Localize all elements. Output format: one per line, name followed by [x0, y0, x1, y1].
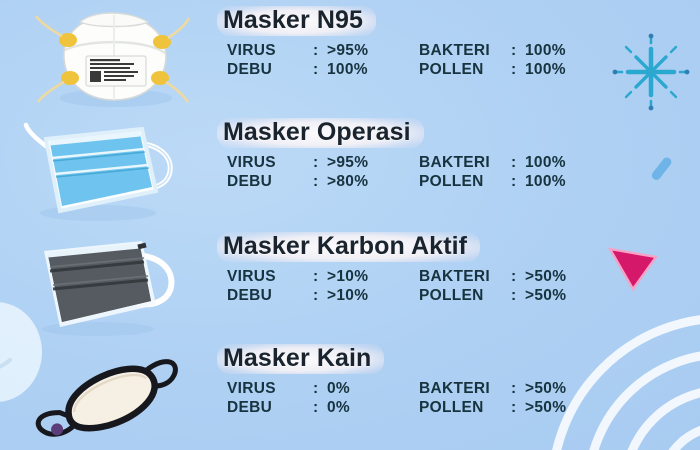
mask-specs: VIRUS : >95% BAKTERI : 100% DEBU : >80% …: [227, 154, 700, 191]
mask-row-n95: Masker N95 VIRUS : >95% BAKTERI : 100% D…: [0, 2, 700, 114]
spec-value-virus: >10%: [327, 268, 419, 286]
spec-value-debu: 0%: [327, 399, 419, 417]
n95-respirator-icon: [0, 2, 215, 114]
spec-colon: :: [313, 399, 327, 417]
row-body: Masker Kain VIRUS : 0% BAKTERI : >50% DE…: [215, 340, 700, 450]
spec-colon: :: [313, 268, 327, 286]
surgical-mask-icon: [0, 114, 215, 226]
mask-title: Masker N95: [217, 6, 376, 36]
spec-value-debu: >80%: [327, 173, 419, 191]
spec-colon: :: [313, 287, 327, 305]
spec-label-pollen: POLLEN: [419, 287, 511, 305]
spec-colon: :: [313, 173, 327, 191]
row-body: Masker N95 VIRUS : >95% BAKTERI : 100% D…: [215, 2, 700, 114]
spec-colon: :: [511, 287, 525, 305]
mask-row-karbon-aktif: Masker Karbon Aktif VIRUS : >10% BAKTERI…: [0, 228, 700, 340]
spec-label-virus: VIRUS: [227, 380, 313, 398]
spec-label-debu: DEBU: [227, 399, 313, 417]
row-body: Masker Karbon Aktif VIRUS : >10% BAKTERI…: [215, 228, 700, 340]
spec-label-pollen: POLLEN: [419, 399, 511, 417]
mask-title: Masker Operasi: [217, 118, 424, 148]
spec-value-debu: 100%: [327, 61, 419, 79]
spec-colon: :: [313, 42, 327, 60]
spec-value-pollen: >50%: [525, 287, 700, 305]
spec-value-pollen: 100%: [525, 173, 700, 191]
spec-value-bakteri: 100%: [525, 42, 700, 60]
spec-label-debu: DEBU: [227, 287, 313, 305]
spec-value-debu: >10%: [327, 287, 419, 305]
spec-value-pollen: 100%: [525, 61, 700, 79]
mask-specs: VIRUS : >95% BAKTERI : 100% DEBU : 100% …: [227, 42, 700, 79]
spec-colon: :: [511, 173, 525, 191]
spec-label-pollen: POLLEN: [419, 61, 511, 79]
spec-value-bakteri: >50%: [525, 380, 700, 398]
mask-row-operasi: Masker Operasi VIRUS : >95% BAKTERI : 10…: [0, 114, 700, 226]
spec-colon: :: [511, 61, 525, 79]
cloth-mask-icon: [0, 340, 215, 450]
spec-label-bakteri: BAKTERI: [419, 268, 511, 286]
spec-colon: :: [313, 154, 327, 172]
mask-row-kain: Masker Kain VIRUS : 0% BAKTERI : >50% DE…: [0, 340, 700, 450]
spec-label-virus: VIRUS: [227, 268, 313, 286]
spec-colon: :: [511, 268, 525, 286]
mask-title: Masker Karbon Aktif: [217, 232, 480, 262]
spec-colon: :: [511, 154, 525, 172]
spec-label-debu: DEBU: [227, 61, 313, 79]
spec-value-virus: 0%: [327, 380, 419, 398]
spec-colon: :: [511, 399, 525, 417]
carbon-mask-icon: [0, 228, 215, 340]
spec-value-virus: >95%: [327, 154, 419, 172]
spec-colon: :: [511, 42, 525, 60]
spec-label-virus: VIRUS: [227, 42, 313, 60]
spec-colon: :: [313, 380, 327, 398]
row-body: Masker Operasi VIRUS : >95% BAKTERI : 10…: [215, 114, 700, 226]
spec-value-bakteri: 100%: [525, 154, 700, 172]
spec-value-virus: >95%: [327, 42, 419, 60]
mask-specs: VIRUS : 0% BAKTERI : >50% DEBU : 0% POLL…: [227, 380, 700, 417]
spec-label-debu: DEBU: [227, 173, 313, 191]
mask-specs: VIRUS : >10% BAKTERI : >50% DEBU : >10% …: [227, 268, 700, 305]
spec-label-bakteri: BAKTERI: [419, 42, 511, 60]
spec-label-bakteri: BAKTERI: [419, 380, 511, 398]
spec-colon: :: [313, 61, 327, 79]
spec-value-pollen: >50%: [525, 399, 700, 417]
spec-label-bakteri: BAKTERI: [419, 154, 511, 172]
mask-comparison-infographic: Masker N95 VIRUS : >95% BAKTERI : 100% D…: [0, 0, 700, 450]
spec-value-bakteri: >50%: [525, 268, 700, 286]
mask-title: Masker Kain: [217, 344, 384, 374]
spec-label-virus: VIRUS: [227, 154, 313, 172]
spec-label-pollen: POLLEN: [419, 173, 511, 191]
spec-colon: :: [511, 380, 525, 398]
